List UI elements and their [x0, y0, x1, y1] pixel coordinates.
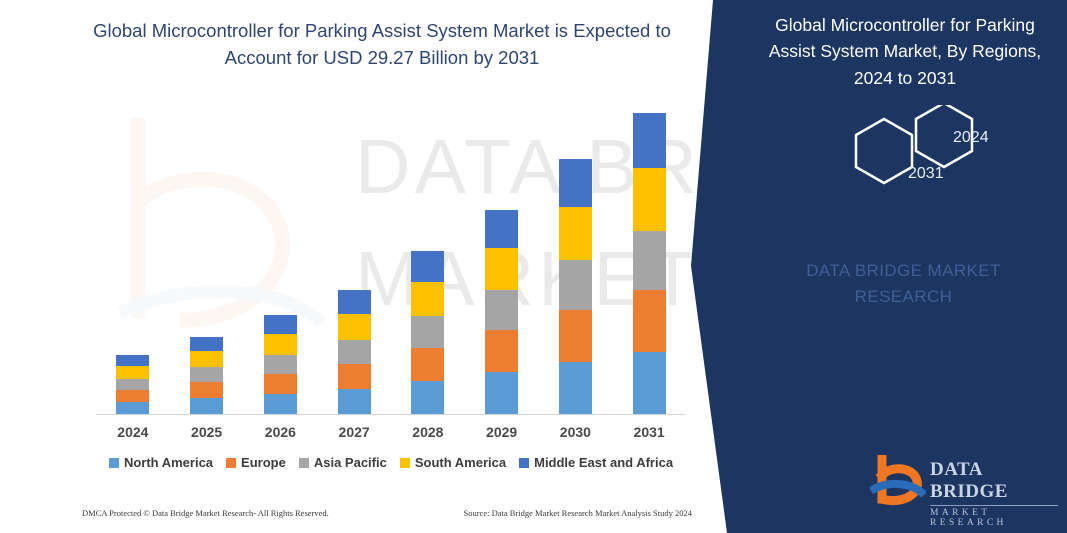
bar-segment-asia-pacific [116, 379, 149, 390]
x-axis-label-2030: 2030 [545, 424, 605, 440]
bar-segment-europe [338, 364, 371, 389]
legend-label: Middle East and Africa [534, 455, 673, 470]
bar-2028 [411, 251, 444, 414]
bar-segment-south-america [264, 334, 297, 355]
bar-segment-middle-east-and-africa [633, 113, 666, 168]
x-axis-label-2024: 2024 [103, 424, 163, 440]
bar-segment-north-america [411, 381, 444, 414]
legend-label: Europe [241, 455, 286, 470]
x-axis-label-2027: 2027 [324, 424, 384, 440]
legend-swatch-icon [400, 458, 410, 468]
brand-logo-title: DATA BRIDGE [930, 459, 1065, 503]
bar-2024 [116, 355, 149, 414]
legend-item-europe[interactable]: Europe [226, 455, 286, 470]
bar-segment-europe [559, 310, 592, 362]
x-axis-line [96, 414, 686, 415]
x-axis-labels: 20242025202620272028202920302031 [96, 424, 686, 444]
chart-legend: North AmericaEuropeAsia PacificSouth Ame… [96, 455, 686, 470]
bar-segment-north-america [116, 402, 149, 414]
bar-segment-north-america [338, 389, 371, 414]
bar-segment-north-america [485, 372, 518, 414]
x-axis-label-2025: 2025 [177, 424, 237, 440]
bar-segment-middle-east-and-africa [264, 315, 297, 334]
panel-brand-line-2: RESEARCH [740, 284, 1067, 310]
brand-logo-divider [930, 505, 1058, 506]
bar-segment-asia-pacific [559, 260, 592, 310]
bar-segment-middle-east-and-africa [559, 159, 592, 207]
hexagon-2031-icon [856, 119, 912, 183]
x-axis-label-2029: 2029 [472, 424, 532, 440]
x-axis-label-2031: 2031 [619, 424, 679, 440]
bar-segment-middle-east-and-africa [338, 290, 371, 314]
bar-2026 [264, 315, 297, 414]
bar-segment-north-america [264, 394, 297, 414]
chart-plot-area [96, 120, 686, 415]
bar-2031 [633, 113, 666, 414]
panel-brand-line-1: DATA BRIDGE MARKET [740, 258, 1067, 284]
bar-segment-asia-pacific [485, 290, 518, 330]
bar-segment-north-america [559, 362, 592, 414]
bar-2029 [485, 210, 518, 414]
footer-copyright: DMCA Protected © Data Bridge Market Rese… [82, 508, 329, 518]
bar-segment-europe [411, 348, 444, 381]
bar-segment-south-america [559, 207, 592, 260]
legend-label: Asia Pacific [314, 455, 387, 470]
bar-segment-middle-east-and-africa [116, 355, 149, 366]
brand-logo-text: DATA BRIDGE MARKET RESEARCH [930, 459, 1065, 528]
hexagon-group: 2024 2031 [808, 105, 1048, 215]
brand-logo-subtitle: MARKET RESEARCH [930, 508, 1065, 528]
bar-segment-asia-pacific [411, 316, 444, 348]
bar-2025 [190, 337, 223, 414]
x-axis-label-2026: 2026 [250, 424, 310, 440]
bar-segment-europe [485, 330, 518, 372]
legend-item-north-america[interactable]: North America [109, 455, 213, 470]
bar-segment-europe [264, 374, 297, 394]
bar-segment-asia-pacific [264, 355, 297, 374]
bar-segment-south-america [485, 248, 518, 290]
panel-brand-text: DATA BRIDGE MARKET RESEARCH [740, 258, 1067, 311]
brand-logo: DATA BRIDGE MARKET RESEARCH [870, 455, 1065, 511]
page-title: Global Microcontroller for Parking Assis… [78, 18, 686, 72]
right-panel: Global Microcontroller for Parking Assis… [740, 0, 1067, 533]
bar-2027 [338, 290, 371, 414]
bar-segment-south-america [411, 282, 444, 316]
hexagon-2024-label: 2024 [953, 129, 989, 147]
legend-item-south-america[interactable]: South America [400, 455, 506, 470]
legend-swatch-icon [299, 458, 309, 468]
legend-swatch-icon [226, 458, 236, 468]
bar-segment-europe [116, 390, 149, 402]
hexagon-2031-label: 2031 [908, 165, 944, 183]
bar-segment-middle-east-and-africa [190, 337, 223, 351]
bar-segment-europe [190, 382, 223, 398]
panel-title: Global Microcontroller for Parking Assis… [750, 12, 1060, 91]
footer: DMCA Protected © Data Bridge Market Rese… [82, 508, 692, 518]
legend-label: North America [124, 455, 213, 470]
legend-item-middle-east-and-africa[interactable]: Middle East and Africa [519, 455, 673, 470]
bar-segment-asia-pacific [338, 340, 371, 364]
bar-segment-europe [633, 290, 666, 352]
x-axis-label-2028: 2028 [398, 424, 458, 440]
legend-item-asia-pacific[interactable]: Asia Pacific [299, 455, 387, 470]
bar-segment-asia-pacific [190, 367, 223, 382]
bar-segment-middle-east-and-africa [485, 210, 518, 248]
infographic-canvas: DATA BRIDGE MARKET RESEARCH Global Micro… [0, 0, 1067, 533]
bar-segment-north-america [190, 398, 223, 414]
bar-segment-middle-east-and-africa [411, 251, 444, 282]
bar-segment-asia-pacific [633, 231, 666, 290]
bar-segment-south-america [190, 351, 223, 367]
bar-segment-south-america [116, 366, 149, 379]
bar-segment-south-america [338, 314, 371, 340]
bar-segment-north-america [633, 352, 666, 414]
legend-label: South America [415, 455, 506, 470]
bar-segment-south-america [633, 168, 666, 231]
bar-2030 [559, 159, 592, 414]
data-bridge-mark-icon [870, 455, 926, 507]
legend-swatch-icon [519, 458, 529, 468]
legend-swatch-icon [109, 458, 119, 468]
footer-source: Source: Data Bridge Market Research Mark… [463, 508, 692, 518]
